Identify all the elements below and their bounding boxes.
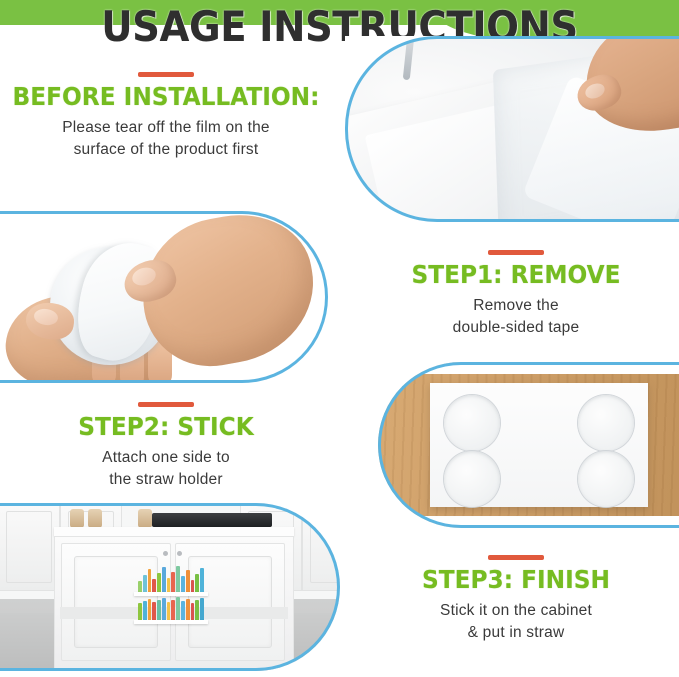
straw (186, 599, 190, 621)
photo-four-pads (378, 362, 679, 528)
straw (143, 575, 147, 593)
adhesive-pad-bottom-right (578, 451, 634, 507)
straw (195, 600, 199, 621)
photo-four-pads-inner (378, 362, 679, 528)
section-body: Please tear off the film on the surface … (0, 117, 332, 160)
straw (200, 568, 204, 593)
accent-dash (138, 72, 194, 77)
section-body: Stick it on the cabinet & put in straw (356, 600, 676, 643)
photo-disc-peel-inner (0, 211, 328, 383)
straw (195, 574, 199, 593)
countertop (54, 527, 294, 536)
adhesive-pad-top-left (444, 395, 500, 451)
adhesive-pad-top-right (578, 395, 634, 451)
photo-kitchen-cabinet-inner (0, 503, 340, 671)
straw (186, 570, 190, 593)
straws-row-bottom (138, 597, 204, 621)
instruction-infographic: USAGE INSTRUCTIONS BEFORE INSTALLATION: … (0, 0, 679, 677)
straw (138, 603, 142, 621)
section-heading: BEFORE INSTALLATION: (12, 84, 321, 110)
section-before-installation: BEFORE INSTALLATION: Please tear off the… (0, 72, 332, 160)
section-step3: STEP3: FINISH Stick it on the cabinet & … (356, 555, 676, 643)
photo-film-peel-inner (345, 36, 679, 222)
straw (171, 572, 175, 593)
straw (157, 573, 161, 593)
section-heading: STEP2: STICK (12, 414, 321, 440)
straw (152, 602, 156, 621)
section-body-line1: Remove the (356, 295, 676, 316)
wood-bottom-mask (378, 516, 679, 528)
holder-shelf-top (134, 592, 208, 596)
straw (181, 601, 185, 621)
straw (171, 600, 175, 622)
straw (148, 569, 152, 593)
accent-dash (138, 402, 194, 407)
section-body-line1: Attach one side to (0, 447, 332, 468)
straws-row-top (138, 565, 204, 593)
holder-shelf-bottom (134, 620, 208, 624)
accent-dash (488, 555, 544, 560)
section-body: Remove the double-sided tape (356, 295, 676, 338)
mounted-straw-holder (134, 565, 208, 623)
section-step1: STEP1: REMOVE Remove the double-sided ta… (356, 250, 676, 338)
straw (143, 601, 147, 621)
section-step2: STEP2: STICK Attach one side to the stra… (0, 402, 332, 490)
section-body-line1: Stick it on the cabinet (356, 600, 676, 621)
photo-film-peel (345, 36, 679, 222)
straw (176, 597, 180, 621)
section-body-line1: Please tear off the film on the (0, 117, 332, 138)
straw (162, 598, 166, 621)
accent-dash (488, 250, 544, 255)
straw (181, 576, 185, 593)
straw-holder-back-panel (430, 383, 648, 507)
photo-disc-peel (0, 211, 328, 383)
cooktop (152, 513, 272, 527)
cabinet-knob-right[interactable] (177, 551, 182, 556)
counter-jar-2 (88, 509, 102, 528)
counter-jar-1 (70, 509, 84, 528)
cabinet-knob-left[interactable] (163, 551, 168, 556)
section-body-line2: the straw holder (0, 469, 332, 490)
section-heading: STEP3: FINISH (367, 567, 665, 593)
photo-kitchen-cabinet (0, 503, 340, 671)
straw (148, 599, 152, 621)
straw (157, 600, 161, 621)
wall-cabinet-left-1 (0, 503, 60, 591)
straw (191, 603, 195, 621)
section-body: Attach one side to the straw holder (0, 447, 332, 490)
counter-jar-3 (138, 509, 152, 528)
straw (176, 566, 180, 593)
straw (167, 602, 171, 621)
adhesive-pad-bottom-left (444, 451, 500, 507)
section-body-line2: double-sided tape (356, 317, 676, 338)
wall-cabinet-right-2 (302, 503, 340, 591)
section-body-line2: & put in straw (356, 622, 676, 643)
section-body-line2: surface of the product first (0, 139, 332, 160)
wood-top-mask (378, 362, 679, 374)
straw (200, 598, 204, 621)
straw (162, 567, 166, 593)
section-heading: STEP1: REMOVE (367, 262, 665, 288)
straw (167, 578, 171, 594)
straw (152, 579, 156, 593)
